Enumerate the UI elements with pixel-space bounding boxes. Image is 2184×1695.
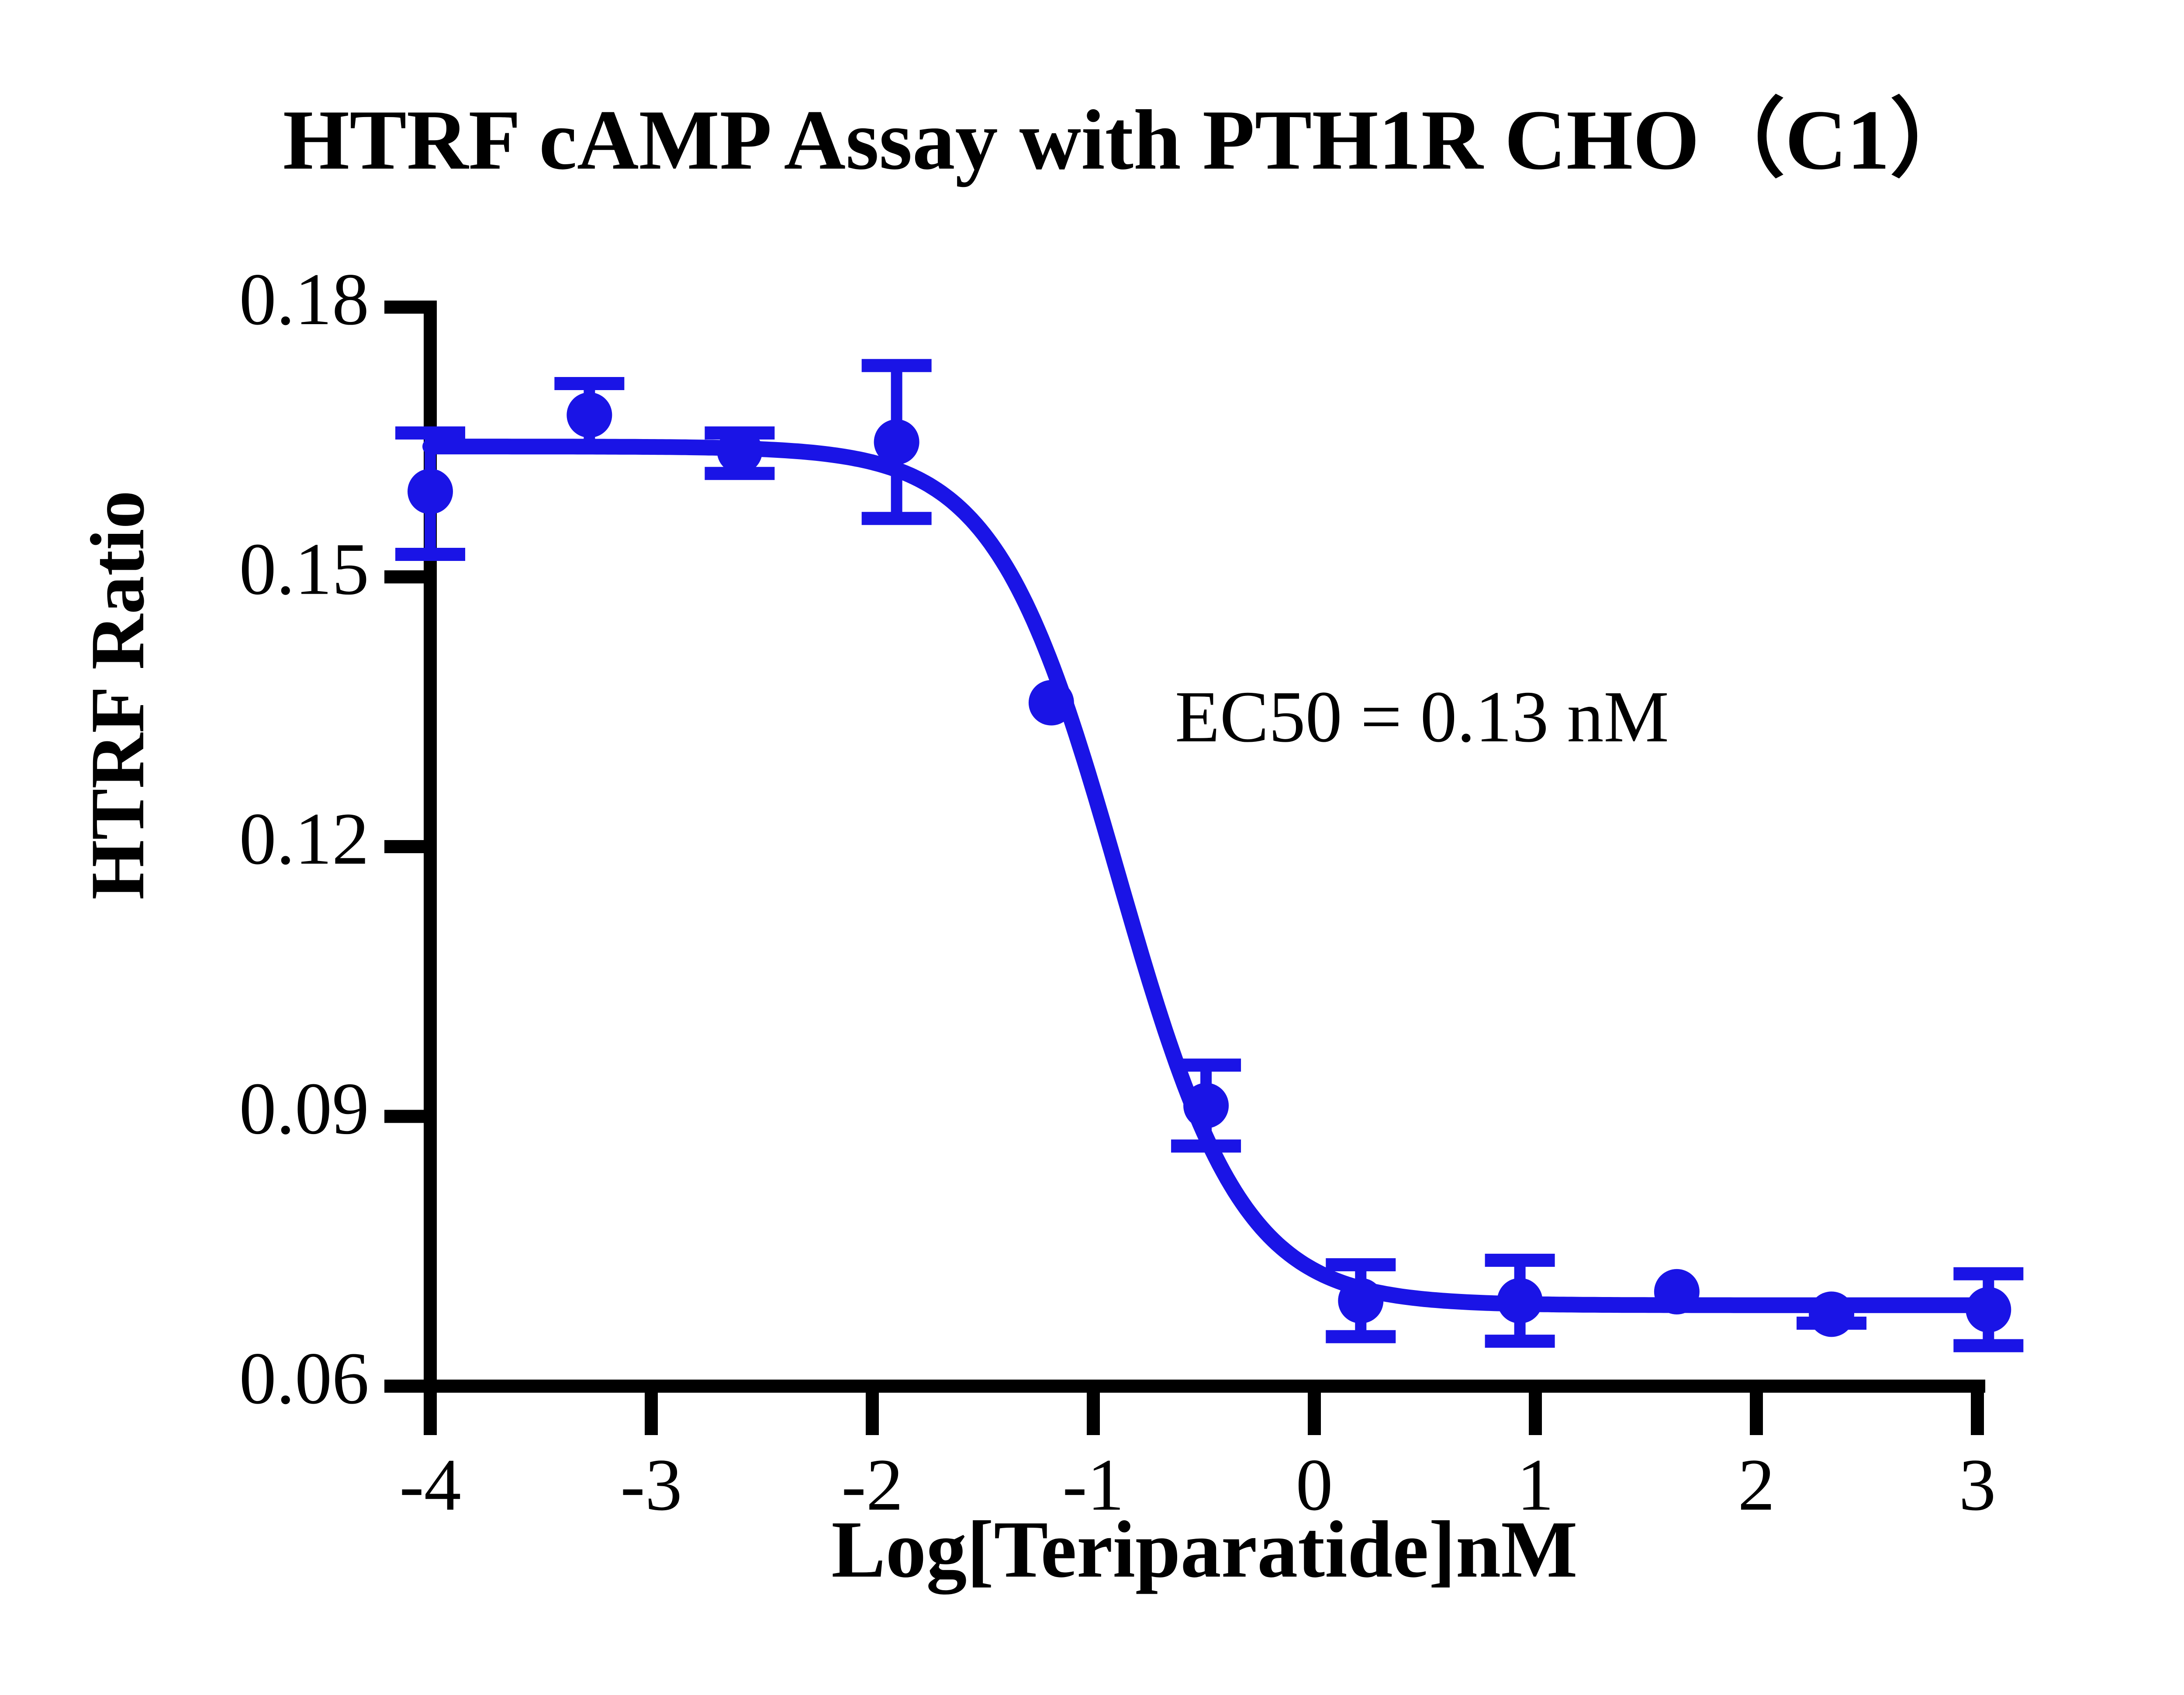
- data-point: [1654, 1269, 1700, 1314]
- x-tick-marks: [430, 1386, 1977, 1435]
- y-tick-marks: [384, 307, 430, 1386]
- data-point: [1966, 1287, 2011, 1332]
- y-axis-title: HTRF Ratio: [74, 389, 162, 1001]
- data-point: [717, 428, 762, 474]
- y-tick-label: 0.06: [239, 1337, 370, 1419]
- data-point: [567, 392, 612, 438]
- y-tick-label: 0.12: [239, 798, 370, 880]
- y-tick-label: 0.15: [239, 528, 370, 610]
- data-point: [1183, 1083, 1229, 1128]
- plot-area: 0.180.150.120.090.06 -4-3-2-10123: [0, 0, 2184, 1695]
- x-axis-title: Log[Teriparatide]nM: [430, 1503, 1979, 1596]
- data-point: [1497, 1278, 1543, 1323]
- y-tick-label: 0.18: [239, 258, 370, 340]
- y-tick-labels: 0.180.150.120.090.06: [239, 258, 370, 1419]
- error-bars: [395, 366, 2023, 1346]
- fit-curve: [430, 446, 1977, 1305]
- data-point: [408, 469, 453, 514]
- data-point: [874, 419, 919, 465]
- data-points: [408, 392, 2011, 1337]
- axis-lines: [424, 301, 1985, 1391]
- data-point: [1809, 1291, 1854, 1337]
- chart-figure: HTRF cAMP Assay with PTH1R CHO（C1） 0.180…: [0, 0, 2184, 1695]
- y-tick-label: 0.09: [239, 1068, 370, 1150]
- data-point: [1338, 1278, 1383, 1323]
- fit-curve-line: [430, 446, 1977, 1305]
- data-point: [1029, 680, 1074, 726]
- ec50-annotation: EC50 = 0.13 nM: [1175, 675, 1669, 759]
